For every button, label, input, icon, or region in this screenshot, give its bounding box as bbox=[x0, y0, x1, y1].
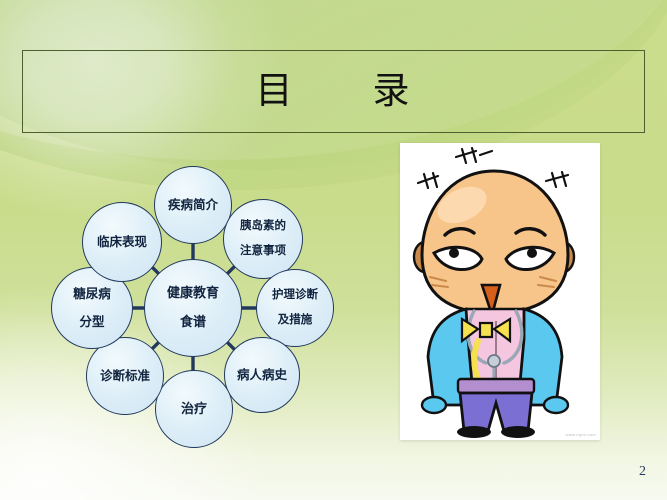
hand-left bbox=[422, 397, 446, 413]
diagram-node-top-right[interactable]: 胰岛素的注意事项 bbox=[223, 199, 303, 279]
diagram-node-top-right-label: 胰岛素的注意事项 bbox=[236, 220, 290, 259]
pupil-right bbox=[527, 248, 537, 258]
page-title: 目 录 bbox=[256, 73, 412, 110]
diagram-node-bottom-left[interactable]: 诊断标准 bbox=[86, 337, 164, 415]
diagram-node-bottom-right[interactable]: 病人病史 bbox=[224, 337, 300, 413]
diagram-node-bottom-left-label: 诊断标准 bbox=[98, 369, 152, 383]
hand-right bbox=[544, 397, 568, 413]
diagram-node-center[interactable]: 健康教育食谱 bbox=[144, 259, 242, 357]
diagram-node-bottom-right-label: 病人病史 bbox=[235, 368, 289, 382]
photo-watermark: www.nipic.com bbox=[566, 432, 596, 437]
pants bbox=[460, 393, 532, 431]
diagram-node-bottom-label: 治疗 bbox=[179, 402, 209, 417]
radial-diagram: 健康教育食谱 疾病简介 胰岛素的注意事项 护理诊断及措施 病人病史 治疗 诊断标… bbox=[18, 158, 368, 458]
belt bbox=[458, 379, 534, 393]
shoe-right bbox=[501, 426, 535, 438]
diagram-node-right-label: 护理诊断及措施 bbox=[268, 289, 322, 328]
diagram-node-top-label: 疾病简介 bbox=[166, 198, 220, 212]
title-box: 目 录 bbox=[22, 50, 645, 133]
pupil-left bbox=[449, 248, 459, 258]
bowtie-knot bbox=[480, 323, 492, 337]
page-number: 2 bbox=[639, 464, 646, 480]
diagram-node-bottom[interactable]: 治疗 bbox=[155, 370, 233, 448]
doctor-cartoon-illustration bbox=[400, 143, 600, 440]
diagram-node-center-label: 健康教育食谱 bbox=[163, 286, 223, 330]
diagram-node-right[interactable]: 护理诊断及措施 bbox=[256, 269, 334, 347]
stethoscope-chestpiece bbox=[488, 355, 500, 367]
shoe-left bbox=[457, 426, 491, 438]
diagram-node-top[interactable]: 疾病简介 bbox=[154, 166, 232, 244]
diagram-node-top-left[interactable]: 临床表现 bbox=[82, 202, 162, 282]
diagram-node-top-left-label: 临床表现 bbox=[95, 235, 149, 249]
slide-canvas: 目 录 健康教育食谱 疾病简介 胰岛素的注意事项 bbox=[0, 0, 667, 500]
doctor-cartoon-photo: www.nipic.com bbox=[400, 143, 600, 440]
diagram-node-left-label: 糖尿病分型 bbox=[69, 287, 115, 329]
